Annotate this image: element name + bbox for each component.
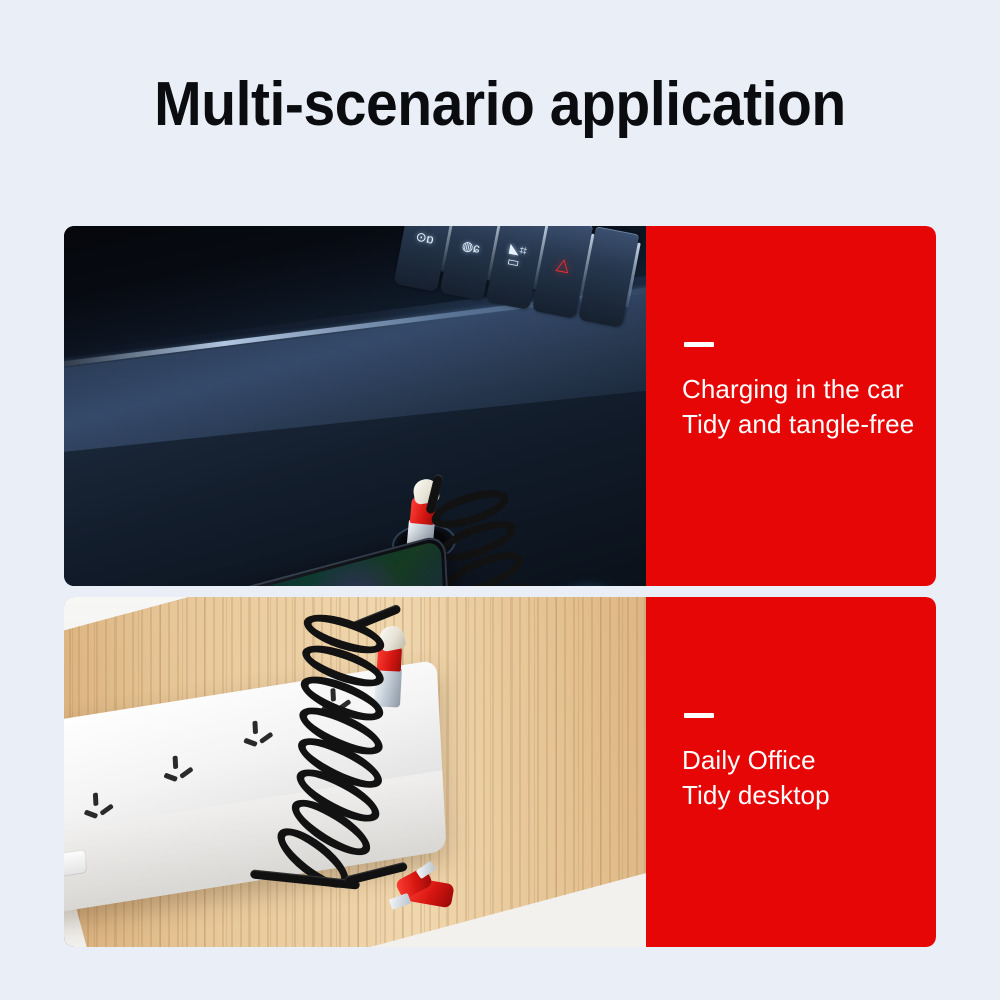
page-title: Multi-scenario application — [40, 74, 960, 136]
parking-sensor-icon: ⊙ɒ — [415, 229, 435, 245]
scenario-card-car: ⊙ɒ ◍ɕ ◣⌗▭ △ ENGINE START STOP P — [64, 226, 936, 586]
scenario-info-panel-car: Charging in the car Tidy and tangle-free — [646, 226, 936, 586]
scenario-info-panel-office: Daily Office Tidy desktop — [646, 597, 936, 947]
panel-divider-dash — [684, 342, 714, 347]
traction-control-icon: ◍ɕ — [461, 238, 481, 254]
panel-line-1: Daily Office — [682, 743, 830, 778]
power-outlet — [153, 747, 209, 798]
power-outlet — [232, 712, 288, 763]
panel-text-office: Daily Office Tidy desktop — [682, 743, 830, 812]
panel-line-1: Charging in the car — [682, 372, 914, 407]
scenario-card-office: 🔒 08:08 85.5% Daily Office Tidy des — [64, 597, 936, 947]
lightning-tip-icon — [389, 893, 412, 910]
panel-line-2: Tidy and tangle-free — [682, 407, 914, 442]
panel-text-car: Charging in the car Tidy and tangle-free — [682, 372, 914, 441]
panel-divider-dash — [684, 713, 714, 718]
hazard-triangle-icon: △ — [555, 255, 571, 274]
camera-icon: ◣⌗▭ — [506, 241, 528, 270]
power-outlet — [73, 784, 129, 835]
scenario-photo-car: ⊙ɒ ◍ɕ ◣⌗▭ △ ENGINE START STOP P — [64, 226, 646, 586]
scenario-photo-office: 🔒 08:08 85.5% — [64, 597, 646, 947]
panel-line-2: Tidy desktop — [682, 778, 830, 813]
